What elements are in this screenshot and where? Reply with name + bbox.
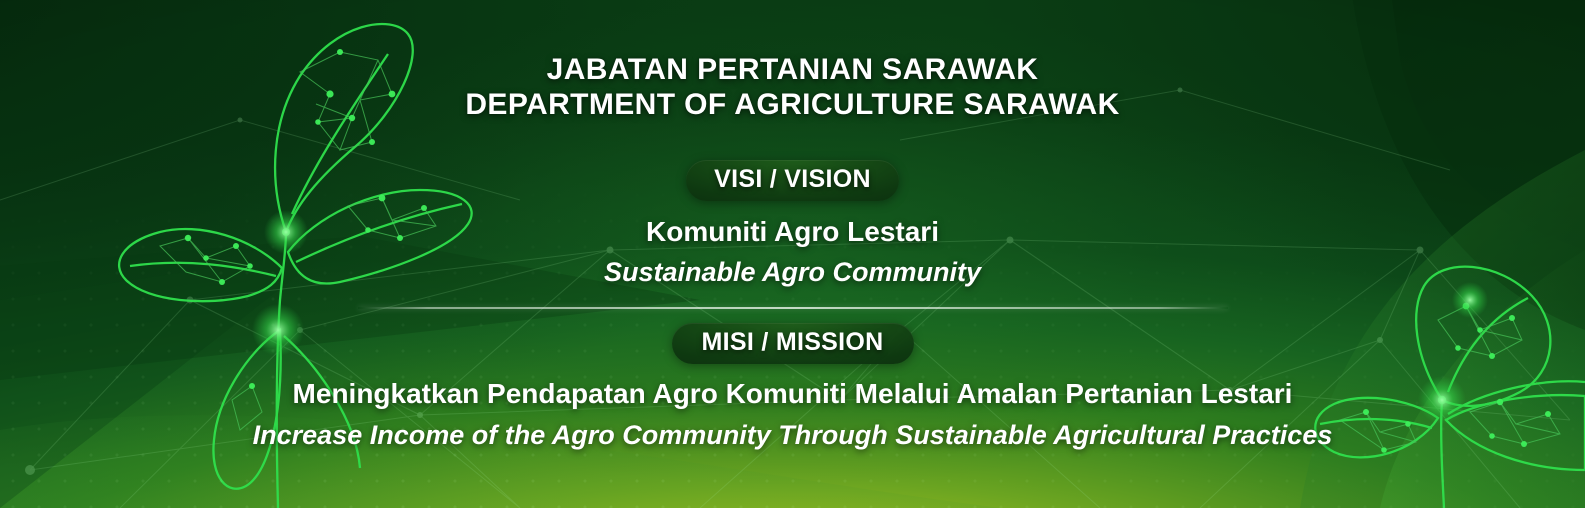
mission-badge: MISI / MISSION <box>672 323 914 364</box>
banner-content: JABATAN PERTANIAN SARAWAK DEPARTMENT OF … <box>0 0 1585 508</box>
mission-block: MISI / MISSION Meningkatkan Pendapatan A… <box>253 321 1333 451</box>
vision-badge: VISI / VISION <box>686 160 899 201</box>
section-divider <box>358 307 1228 309</box>
organization-title-block: JABATAN PERTANIAN SARAWAK DEPARTMENT OF … <box>465 52 1119 122</box>
org-title-english: DEPARTMENT OF AGRICULTURE SARAWAK <box>465 87 1119 122</box>
vision-mission-banner: JABATAN PERTANIAN SARAWAK DEPARTMENT OF … <box>0 0 1585 508</box>
mission-statement-english: Increase Income of the Agro Community Th… <box>253 419 1333 451</box>
vision-statement-english: Sustainable Agro Community <box>604 256 981 288</box>
mission-statement-malay: Meningkatkan Pendapatan Agro Komuniti Me… <box>293 377 1293 411</box>
org-title-malay: JABATAN PERTANIAN SARAWAK <box>465 52 1119 87</box>
vision-statement-malay: Komuniti Agro Lestari <box>646 215 939 249</box>
